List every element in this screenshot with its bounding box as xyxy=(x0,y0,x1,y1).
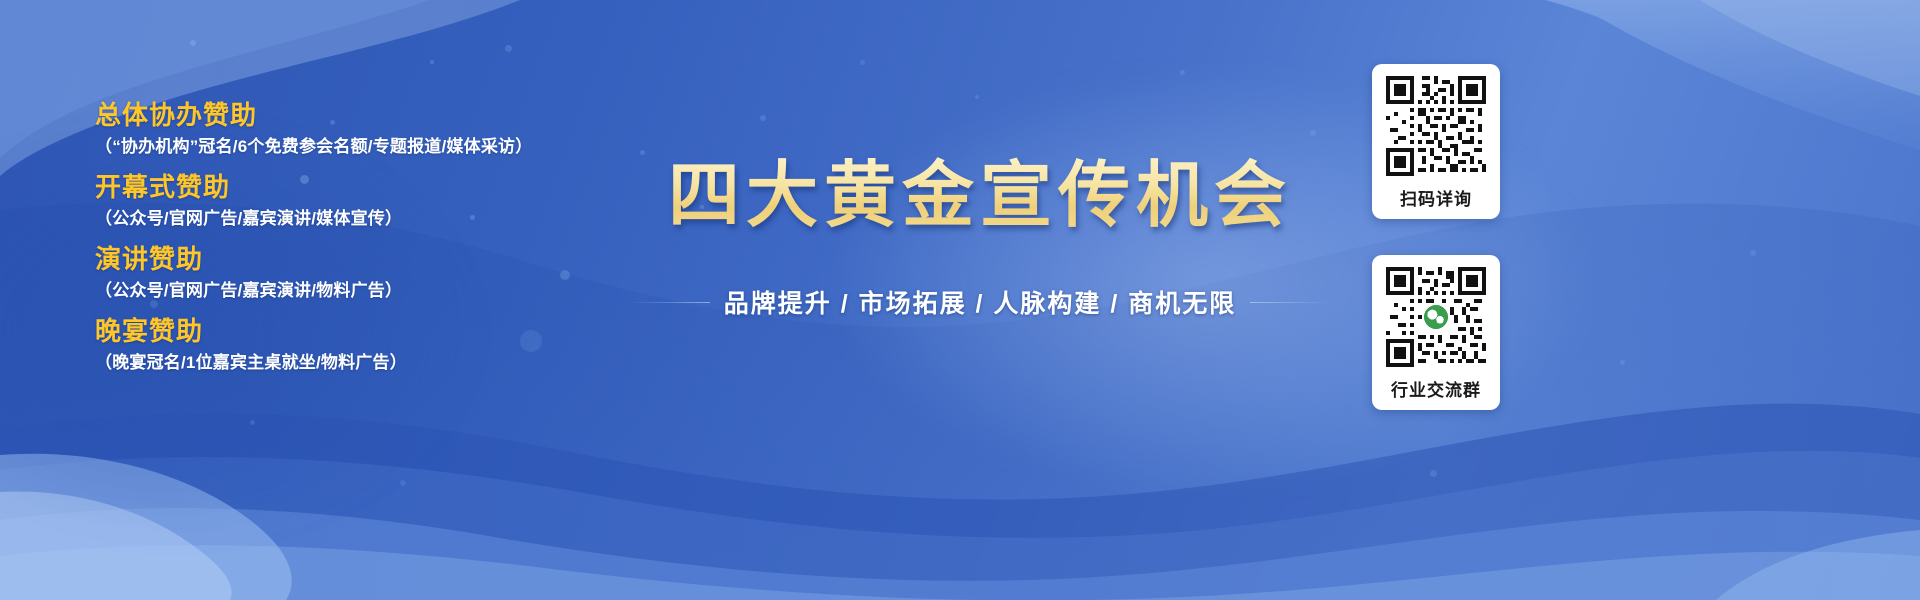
bokeh-speck xyxy=(190,40,196,46)
sponsorship-title: 开幕式赞助 xyxy=(95,170,655,204)
bokeh-speck xyxy=(760,115,766,121)
qr-card-consult[interactable]: 扫码详询 xyxy=(1372,64,1500,219)
headline-container: 四大黄金宣传机会 xyxy=(660,150,1300,242)
bokeh-speck xyxy=(1750,250,1756,256)
promo-banner: 总体协办赞助 （“协办机构”冠名/6个免费参会名额/专题报道/媒体采访） 开幕式… xyxy=(0,0,1920,600)
bokeh-speck xyxy=(400,480,406,486)
qr-card-label: 行业交流群 xyxy=(1391,376,1481,401)
sponsorship-list: 总体协办赞助 （“协办机构”冠名/6个免费参会名额/专题报道/媒体采访） 开幕式… xyxy=(95,98,655,386)
bokeh-speck xyxy=(430,60,434,64)
sponsorship-detail: （公众号/官网广告/嘉宾演讲/物料广告） xyxy=(95,276,655,306)
qr-card-label: 扫码详询 xyxy=(1400,185,1472,210)
qr-code-icon xyxy=(1386,76,1486,176)
sponsorship-item: 开幕式赞助 （公众号/官网广告/嘉宾演讲/媒体宣传） xyxy=(95,170,655,234)
sponsorship-title: 总体协办赞助 xyxy=(95,98,655,132)
sponsorship-item: 晚宴赞助 （晚宴冠名/1位嘉宾主桌就坐/物料广告） xyxy=(95,314,655,378)
bokeh-speck xyxy=(250,420,255,425)
bokeh-speck xyxy=(1180,70,1185,75)
bokeh-speck xyxy=(1620,360,1625,365)
divider-left xyxy=(630,302,710,303)
sponsorship-detail: （公众号/官网广告/嘉宾演讲/媒体宣传） xyxy=(95,204,655,234)
bokeh-speck xyxy=(505,45,512,52)
divider-right xyxy=(1250,302,1330,303)
sponsorship-title: 晚宴赞助 xyxy=(95,314,655,348)
qr-code-icon xyxy=(1386,267,1486,367)
sponsorship-title: 演讲赞助 xyxy=(95,242,655,276)
sponsorship-item: 演讲赞助 （公众号/官网广告/嘉宾演讲/物料广告） xyxy=(95,242,655,306)
sponsorship-detail: （“协办机构”冠名/6个免费参会名额/专题报道/媒体采访） xyxy=(95,132,655,162)
subtitle-row: 品牌提升 / 市场拓展 / 人脉构建 / 商机无限 xyxy=(630,280,1330,324)
bokeh-speck xyxy=(860,60,865,65)
qr-card-group[interactable]: 行业交流群 xyxy=(1372,255,1500,410)
sponsorship-item: 总体协办赞助 （“协办机构”冠名/6个免费参会名额/专题报道/媒体采访） xyxy=(95,98,655,162)
bokeh-speck xyxy=(1310,130,1316,136)
bokeh-speck xyxy=(1430,470,1437,477)
sponsorship-detail: （晚宴冠名/1位嘉宾主桌就坐/物料广告） xyxy=(95,348,655,378)
subtitle-text: 品牌提升 / 市场拓展 / 人脉构建 / 商机无限 xyxy=(710,284,1251,320)
headline-text: 四大黄金宣传机会 xyxy=(660,150,1300,242)
bokeh-speck xyxy=(975,95,979,99)
